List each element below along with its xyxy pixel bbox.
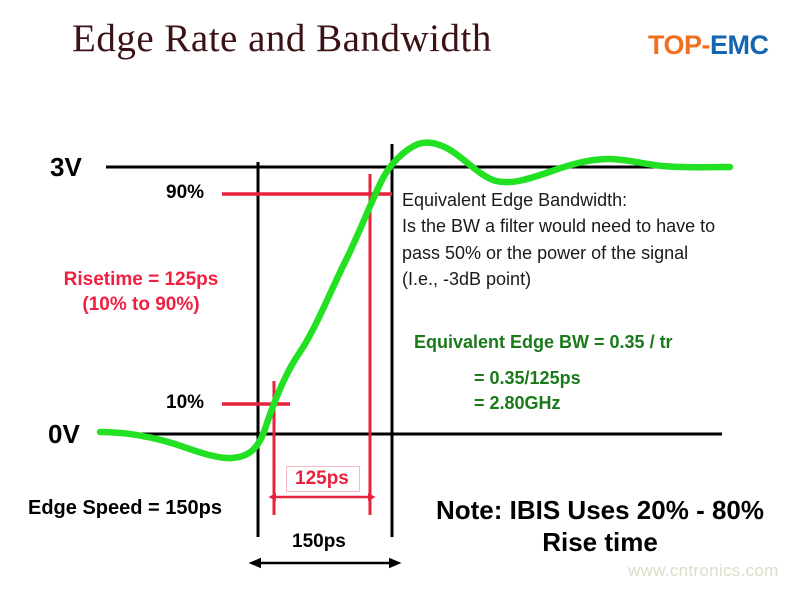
label-10-percent: 10%	[166, 392, 204, 414]
axis-label-3v: 3V	[50, 152, 82, 183]
watermark-url: www.cntronics.com	[628, 561, 779, 581]
edgespeed-dimension-label: 150ps	[292, 531, 346, 553]
bandwidth-description: Equivalent Edge Bandwidth: Is the BW a f…	[402, 187, 715, 292]
risetime-annotation: Risetime = 125ps (10% to 90%)	[26, 267, 256, 317]
bandwidth-formula: Equivalent Edge BW = 0.35 / tr = 0.35/12…	[414, 330, 673, 415]
axis-label-0v: 0V	[48, 419, 80, 450]
risetime-line-2: (10% to 90%)	[82, 294, 199, 315]
edge-speed-label: Edge Speed = 150ps	[28, 497, 222, 520]
label-90-percent: 90%	[166, 182, 204, 204]
formula-line-3: = 2.80GHz	[414, 391, 673, 415]
risetime-line-1: Risetime = 125ps	[64, 269, 219, 290]
bandwidth-line-3: pass 50% or the power of the signal	[402, 240, 715, 266]
ibis-note: Note: IBIS Uses 20% - 80% Rise time	[404, 495, 796, 558]
ibis-note-line-1: Note: IBIS Uses 20% - 80%	[404, 495, 796, 527]
formula-spacer	[414, 354, 673, 366]
formula-line-1: Equivalent Edge BW = 0.35 / tr	[414, 330, 673, 354]
ibis-note-line-2: Rise time	[404, 527, 796, 559]
bandwidth-line-4: (I.e., -3dB point)	[402, 266, 715, 292]
bandwidth-line-2: Is the BW a filter would need to have to	[402, 213, 715, 239]
slide-canvas: Edge Rate and Bandwidth TOP-EMC	[0, 0, 803, 591]
bandwidth-line-1: Equivalent Edge Bandwidth:	[402, 187, 715, 213]
formula-line-2: = 0.35/125ps	[414, 366, 673, 390]
risetime-dimension-label: 125ps	[295, 468, 349, 490]
